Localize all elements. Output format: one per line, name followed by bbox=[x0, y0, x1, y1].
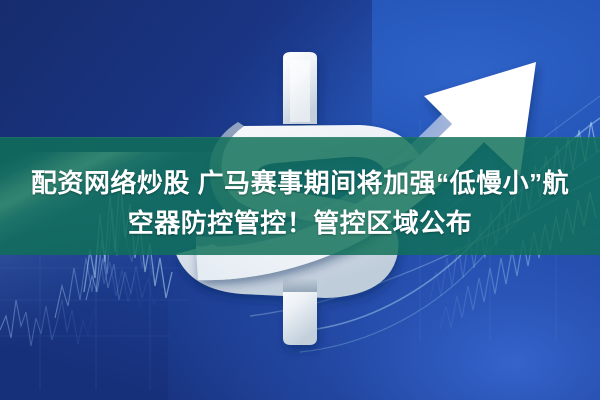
headline-line-1: 配资网络炒股 广马赛事期间将加强“低慢小”航 bbox=[0, 163, 600, 203]
banner-image: 配资网络炒股 广马赛事期间将加强“低慢小”航 空器防控管控！管控区域公布 bbox=[0, 0, 600, 400]
headline: 配资网络炒股 广马赛事期间将加强“低慢小”航 空器防控管控！管控区域公布 bbox=[0, 163, 600, 243]
headline-line-2: 空器防控管控！管控区域公布 bbox=[0, 203, 600, 243]
